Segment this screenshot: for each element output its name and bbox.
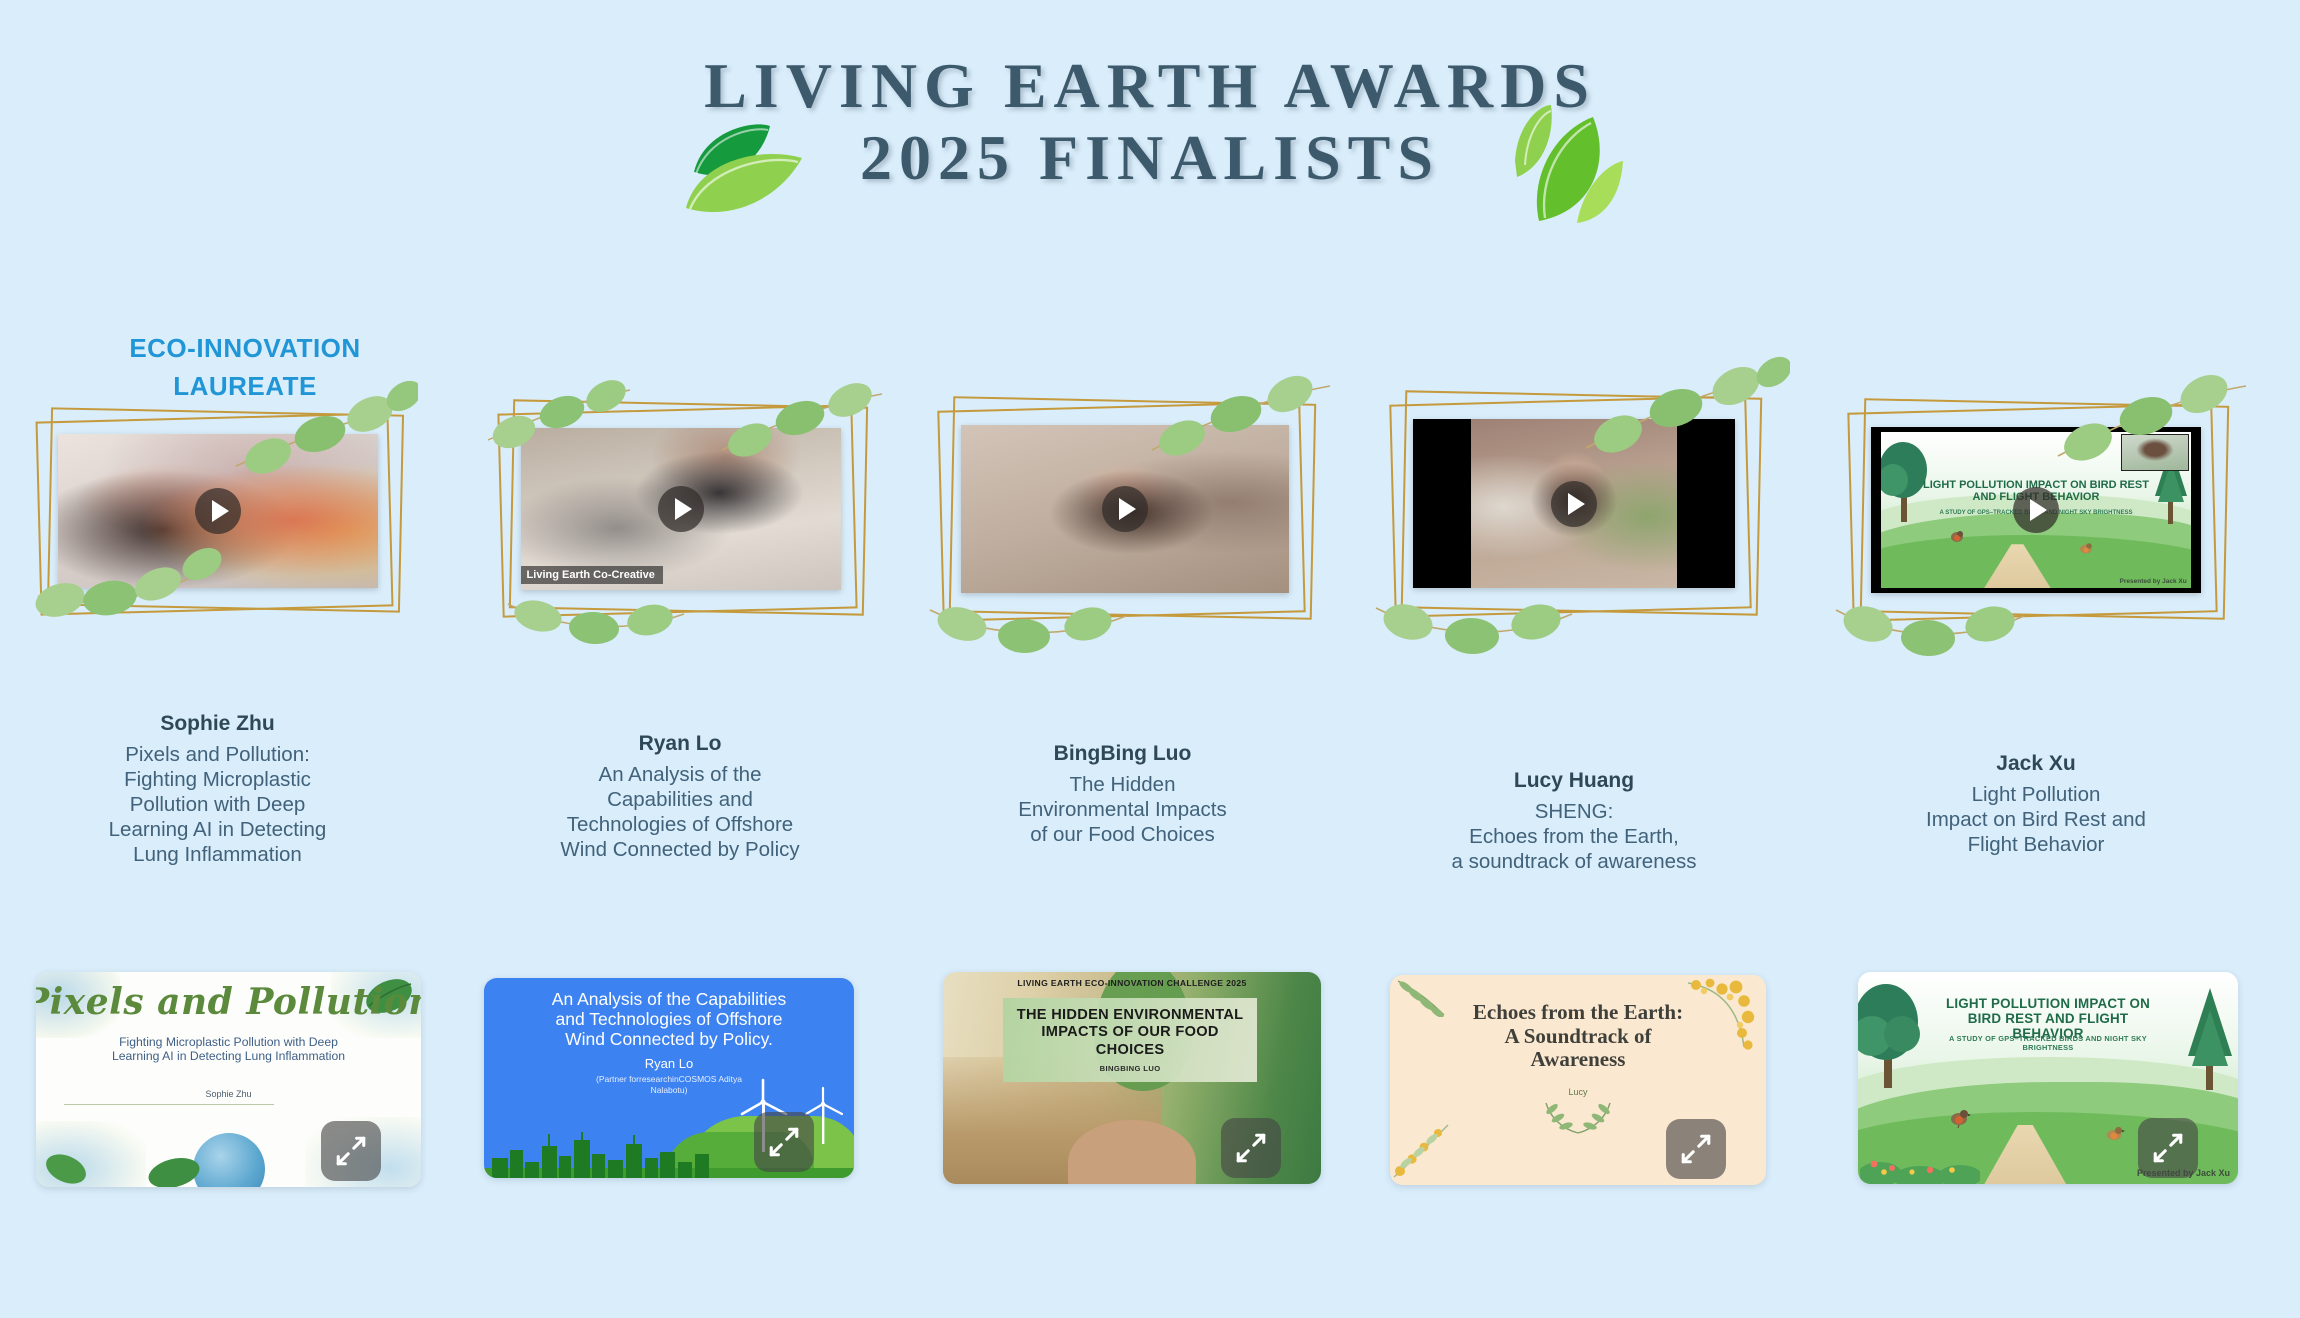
video-thumbnail-bingbing-luo[interactable] — [961, 425, 1289, 593]
eco-innovation-laureate-badge: ECO-INNOVATION LAUREATE — [60, 330, 430, 405]
finalist-title-line: a soundtrack of awareness — [1382, 849, 1766, 874]
video-card-lucy-huang[interactable] — [1382, 390, 1766, 632]
finalist-info-sophie-zhu: Sophie Zhu Pixels and Pollution: Fightin… — [30, 712, 405, 867]
finalist-name: Ryan Lo — [490, 732, 870, 756]
poster-subtitle: A STUDY OF GPS–TRACKED BIRDS AND NIGHT S… — [1933, 1034, 2163, 1052]
video-card-sophie-zhu[interactable] — [28, 408, 408, 628]
expand-icon[interactable] — [321, 1121, 381, 1181]
flower-vine-icon — [1682, 977, 1762, 1055]
finalist-title-line: Pollution with Deep — [30, 792, 405, 817]
poster-script-title: Pixels and Pollution — [36, 981, 421, 1023]
expand-icon[interactable] — [2138, 1118, 2198, 1178]
video-card-ryan-lo[interactable]: Living Earth Co-Creative — [490, 400, 872, 632]
leaf-sprig-icon — [1396, 977, 1448, 1017]
poster-author: Lucy — [1568, 1087, 1587, 1097]
flower-bed-icon — [1860, 1138, 1980, 1184]
divider — [64, 1104, 274, 1105]
slide-credit: Presented by Jack Xu — [2120, 578, 2187, 585]
poster-thumbnail-sophie-zhu[interactable]: Pixels and Pollution Fighting Microplast… — [36, 972, 421, 1187]
poster-subtitle: Fighting Microplastic Pollution with Dee… — [104, 1036, 354, 1064]
poster-partner-credit: (Partner forresearchinCOSMOS Aditya Nala… — [579, 1074, 759, 1095]
flower-sprig-icon — [1392, 1119, 1458, 1183]
finalist-name: BingBing Luo — [925, 742, 1320, 766]
finalist-title-line: Impact on Bird Rest and — [1840, 807, 2232, 832]
finalist-info-ryan-lo: Ryan Lo An Analysis of the Capabilities … — [490, 732, 870, 862]
page-title-line-2: 2025 FINALISTS — [704, 122, 1596, 194]
poster-author: Ryan Lo — [645, 1056, 693, 1071]
finalist-title-line: Flight Behavior — [1840, 832, 2232, 857]
page-title: LIVING EARTH AWARDS 2025 FINALISTS — [704, 50, 1596, 193]
video-thumbnail-jack-xu[interactable]: LIGHT POLLUTION IMPACT ON BIRD REST AND … — [1871, 427, 2200, 594]
play-icon[interactable] — [195, 488, 241, 534]
poster-title-card: THE HIDDEN ENVIRONMENTAL IMPACTS OF OUR … — [1003, 998, 1256, 1082]
poster-author: BINGBING LUO — [1100, 1064, 1161, 1073]
finalist-title-line: Echoes from the Earth, — [1382, 824, 1766, 849]
finalist-title-line: Pixels and Pollution: — [30, 742, 405, 767]
finalists-page: LIVING EARTH AWARDS 2025 FINALISTS ECO-I… — [0, 0, 2300, 1318]
globe-illustration — [193, 1133, 265, 1187]
finalist-info-bingbing-luo: BingBing Luo The Hidden Environmental Im… — [925, 742, 1320, 847]
bird-icon — [2105, 1125, 2125, 1143]
finalist-title-line: of our Food Choices — [925, 822, 1320, 847]
webcam-pip — [2121, 434, 2189, 472]
finalist-name: Lucy Huang — [1382, 769, 1766, 793]
poster-author: Sophie Zhu — [205, 1089, 251, 1099]
video-card-jack-xu[interactable]: LIGHT POLLUTION IMPACT ON BIRD REST AND … — [1840, 398, 2232, 636]
expand-icon[interactable] — [754, 1112, 814, 1172]
poster-title: Echoes from the Earth: A Soundtrack of A… — [1470, 1001, 1686, 1072]
poster-banner-text: LIVING EARTH ECO-INNOVATION CHALLENGE 20… — [975, 978, 1289, 988]
finalist-title-line: Lung Inflammation — [30, 842, 405, 867]
poster-thumbnail-ryan-lo[interactable]: An Analysis of the Capabilities and Tech… — [484, 978, 854, 1178]
video-caption: Living Earth Co-Creative — [521, 566, 663, 584]
poster-thumbnail-bingbing-luo[interactable]: LIVING EARTH ECO-INNOVATION CHALLENGE 20… — [943, 972, 1321, 1184]
laurel-wreath-icon — [1538, 1101, 1618, 1135]
video-thumbnail-sophie-zhu[interactable] — [58, 434, 377, 588]
finalist-title-line: Environmental Impacts — [925, 797, 1320, 822]
tree-left-icon — [1858, 978, 1924, 1090]
leaf-icon — [44, 1149, 90, 1187]
finalist-info-lucy-huang: Lucy Huang SHENG: Echoes from the Earth,… — [1382, 769, 1766, 874]
poster-thumbnail-jack-xu[interactable]: LIGHT POLLUTION IMPACT ON BIRD REST AND … — [1858, 972, 2238, 1184]
expand-icon[interactable] — [1221, 1118, 1281, 1178]
finalist-title-line: Light Pollution — [1840, 782, 2232, 807]
finalist-title-line: Wind Connected by Policy — [490, 837, 870, 862]
leaf-icon — [146, 1151, 202, 1187]
finalist-title-line: The Hidden — [925, 772, 1320, 797]
finalist-name: Sophie Zhu — [30, 712, 405, 736]
video-card-bingbing-luo[interactable] — [930, 396, 1320, 636]
bird-icon — [1949, 529, 1965, 544]
video-thumbnail-lucy-huang[interactable] — [1413, 419, 1736, 588]
finalist-title-line: Learning AI in Detecting — [30, 817, 405, 842]
poster-thumbnail-lucy-huang[interactable]: Echoes from the Earth: A Soundtrack of A… — [1390, 975, 1766, 1185]
page-header: LIVING EARTH AWARDS 2025 FINALISTS — [0, 50, 2300, 193]
play-icon[interactable] — [658, 486, 704, 532]
bird-icon — [1949, 1108, 1971, 1128]
expand-icon[interactable] — [1666, 1119, 1726, 1179]
poster-title: An Analysis of the Capabilities and Tech… — [550, 990, 788, 1050]
play-icon[interactable] — [2013, 487, 2059, 533]
finalist-info-jack-xu: Jack Xu Light Pollution Impact on Bird R… — [1840, 752, 2232, 857]
city-skyline-icon — [490, 1132, 720, 1178]
finalist-title-line: Capabilities and — [490, 787, 870, 812]
bird-icon — [2079, 541, 2094, 555]
poster-title: THE HIDDEN ENVIRONMENTAL IMPACTS OF OUR … — [1009, 1007, 1252, 1059]
finalist-title-line: SHENG: — [1382, 799, 1766, 824]
video-thumbnail-ryan-lo[interactable]: Living Earth Co-Creative — [521, 428, 842, 590]
play-icon[interactable] — [1551, 481, 1597, 527]
finalist-name: Jack Xu — [1840, 752, 2232, 776]
finalist-title-line: An Analysis of the — [490, 762, 870, 787]
page-title-line-1: LIVING EARTH AWARDS — [704, 50, 1596, 122]
finalist-title-line: Technologies of Offshore — [490, 812, 870, 837]
play-icon[interactable] — [1102, 486, 1148, 532]
finalist-title-line: Fighting Microplastic — [30, 767, 405, 792]
tree-right-icon — [2182, 982, 2238, 1090]
